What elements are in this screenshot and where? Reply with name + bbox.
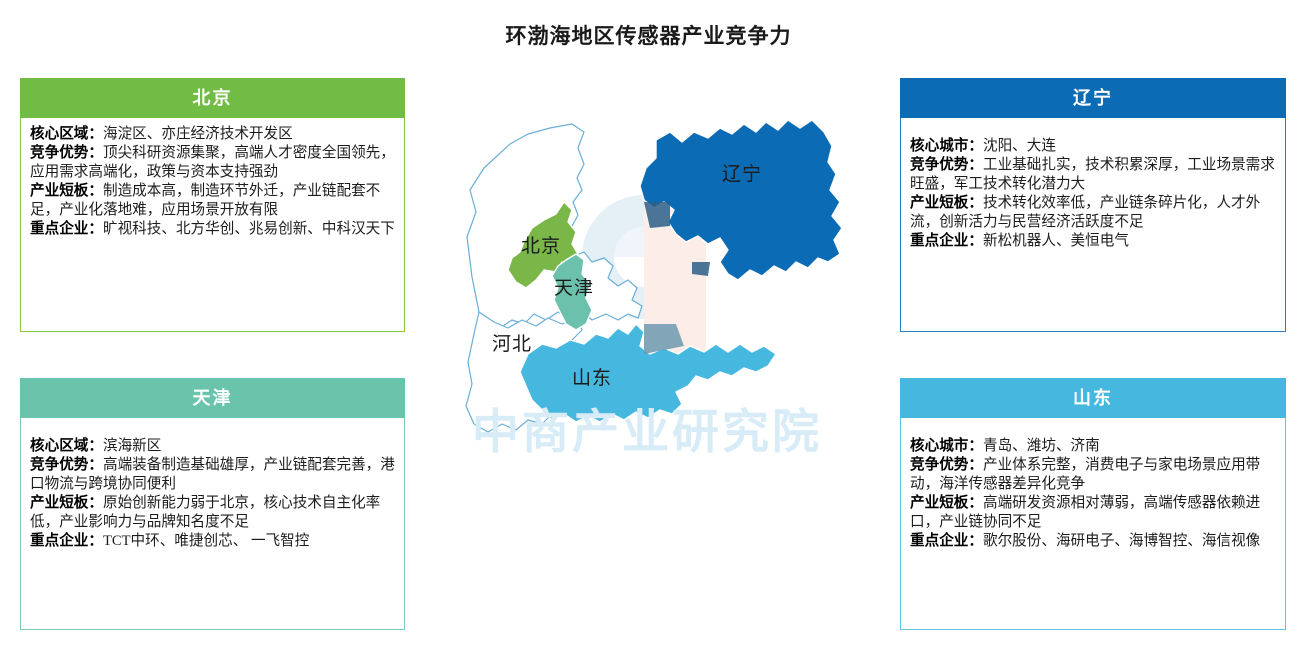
map-label-shandong: 山东 xyxy=(572,367,612,389)
row-value: 新松机器人、美恒电气 xyxy=(983,233,1129,249)
map-label-beijing: 北京 xyxy=(521,235,561,257)
row-key: 产业短板： xyxy=(30,495,103,511)
infographic-root: 环渤海地区传感器产业竞争力 xyxy=(0,0,1297,649)
card-beijing-row-3: 重点企业：旷视科技、北方华创、兆易创新、中科汉天下 xyxy=(30,220,395,239)
map-label-hebei: 河北 xyxy=(492,333,532,355)
card-liaoning-header: 辽宁 xyxy=(900,78,1286,118)
row-key: 竞争优势： xyxy=(30,145,103,161)
row-key: 核心区域： xyxy=(30,438,103,454)
row-value: 沈阳、大连 xyxy=(983,138,1056,154)
row-key: 竞争优势： xyxy=(910,457,983,473)
card-tianjin-row-3: 重点企业：TCT中环、唯捷创芯、 一飞智控 xyxy=(30,532,395,551)
card-beijing-body: 核心区域：海淀区、亦庄经济技术开发区 竞争优势：顶尖科研资源集聚，高端人才密度全… xyxy=(20,118,405,332)
card-shandong-row-1: 竞争优势：产业体系完整，消费电子与家电场景应用带动，海洋传感器差异化竞争 xyxy=(910,456,1276,494)
card-liaoning-body: 核心城市：沈阳、大连 竞争优势：工业基础扎实，技术积累深厚，工业场景需求旺盛，军… xyxy=(900,118,1286,332)
card-shandong-row-2: 产业短板：高端研发资源相对薄弱，高端传感器依赖进口，产业链协同不足 xyxy=(910,494,1276,532)
row-key: 核心城市： xyxy=(910,138,983,154)
row-key: 竞争优势： xyxy=(910,157,983,173)
row-value: 滨海新区 xyxy=(103,438,161,454)
card-liaoning-row-2: 产业短板：技术转化效率低，产业链条碎片化，人才外流，创新活力与民营经济活跃度不足 xyxy=(910,194,1276,232)
card-beijing-row-1: 竞争优势：顶尖科研资源集聚，高端人才密度全国领先，应用需求高端化，政策与资本支持… xyxy=(30,144,395,182)
card-tianjin-row-0: 核心区域：滨海新区 xyxy=(30,437,395,456)
card-shandong-body: 核心城市：青岛、潍坊、济南 竞争优势：产业体系完整，消费电子与家电场景应用带动，… xyxy=(900,418,1286,630)
card-liaoning: 辽宁 核心城市：沈阳、大连 竞争优势：工业基础扎实，技术积累深厚，工业场景需求旺… xyxy=(900,78,1286,332)
card-tianjin-row-2: 产业短板：原始创新能力弱于北京，核心技术自主化率低，产业影响力与品牌知名度不足 xyxy=(30,494,395,532)
card-beijing-header: 北京 xyxy=(20,78,405,118)
card-liaoning-row-3: 重点企业：新松机器人、美恒电气 xyxy=(910,232,1276,251)
row-key: 核心城市： xyxy=(910,438,983,454)
page-title: 环渤海地区传感器产业竞争力 xyxy=(0,20,1297,50)
row-key: 产业短板： xyxy=(910,495,983,511)
card-shandong: 山东 核心城市：青岛、潍坊、济南 竞争优势：产业体系完整，消费电子与家电场景应用… xyxy=(900,378,1286,630)
row-value: 海淀区、亦庄经济技术开发区 xyxy=(103,126,293,142)
row-key: 产业短板： xyxy=(910,195,983,211)
row-key: 竞争优势： xyxy=(30,457,103,473)
row-value: 歌尔股份、海研电子、海博智控、海信视像 xyxy=(983,533,1260,549)
card-shandong-row-0: 核心城市：青岛、潍坊、济南 xyxy=(910,437,1276,456)
row-value: 青岛、潍坊、济南 xyxy=(983,438,1100,454)
row-key: 重点企业： xyxy=(910,533,983,549)
row-key: 核心区域： xyxy=(30,126,103,142)
map-label-liaoning: 辽宁 xyxy=(722,163,762,185)
card-beijing: 北京 核心区域：海淀区、亦庄经济技术开发区 竞争优势：顶尖科研资源集聚，高端人才… xyxy=(20,78,405,332)
row-key: 重点企业： xyxy=(30,221,103,237)
card-tianjin-row-1: 竞争优势：高端装备制造基础雄厚，产业链配套完善，港口物流与跨境协同便利 xyxy=(30,456,395,494)
card-tianjin: 天津 核心区域：滨海新区 竞争优势：高端装备制造基础雄厚，产业链配套完善，港口物… xyxy=(20,378,405,630)
card-liaoning-row-1: 竞争优势：工业基础扎实，技术积累深厚，工业场景需求旺盛，军工技术转化潜力大 xyxy=(910,156,1276,194)
map-label-tianjin: 天津 xyxy=(554,277,594,299)
row-value: TCT中环、唯捷创芯、 一飞智控 xyxy=(103,533,309,549)
row-key: 产业短板： xyxy=(30,183,103,199)
card-beijing-row-2: 产业短板：制造成本高，制造环节外迁，产业链配套不足，产业化落地难，应用场景开放有… xyxy=(30,182,395,220)
card-liaoning-row-0: 核心城市：沈阳、大连 xyxy=(910,137,1276,156)
card-beijing-row-0: 核心区域：海淀区、亦庄经济技术开发区 xyxy=(30,125,395,144)
card-shandong-header: 山东 xyxy=(900,378,1286,418)
card-tianjin-body: 核心区域：滨海新区 竞争优势：高端装备制造基础雄厚，产业链配套完善，港口物流与跨… xyxy=(20,418,405,630)
row-key: 重点企业： xyxy=(30,533,103,549)
row-value: 旷视科技、北方华创、兆易创新、中科汉天下 xyxy=(103,221,395,237)
card-tianjin-header: 天津 xyxy=(20,378,405,418)
region-map: 辽宁 北京 天津 河北 山东 xyxy=(432,62,882,482)
row-key: 重点企业： xyxy=(910,233,983,249)
card-shandong-row-3: 重点企业：歌尔股份、海研电子、海博智控、海信视像 xyxy=(910,532,1276,551)
